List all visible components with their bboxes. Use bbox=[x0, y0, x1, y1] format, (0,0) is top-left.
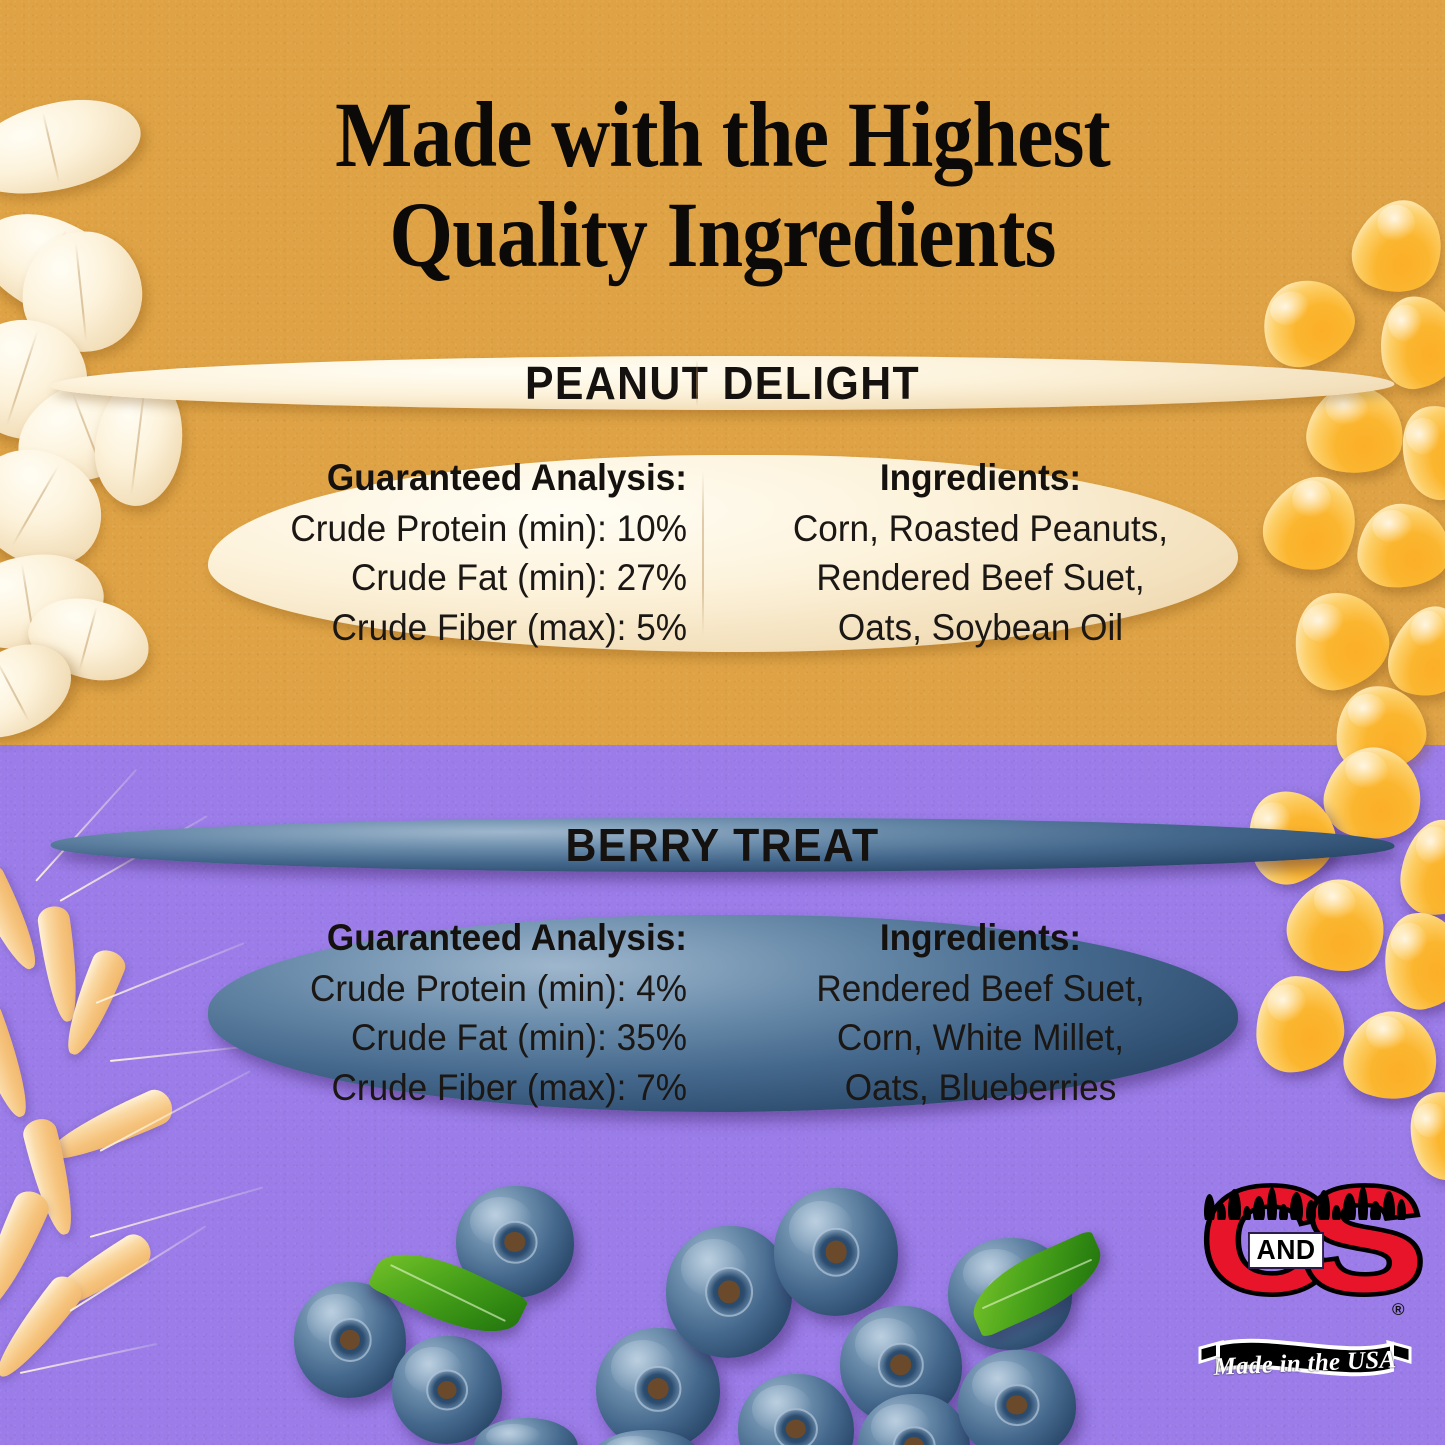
analysis-line: Crude Fat (min): 35% bbox=[232, 1013, 687, 1062]
made-in-usa-ribbon: Made in the USA bbox=[1196, 1334, 1414, 1394]
ingredients-heading: Ingredients: bbox=[736, 915, 1225, 960]
analysis-line: Crude Protein (min): 10% bbox=[232, 504, 687, 553]
ingredients-line: Rendered Beef Suet, bbox=[736, 964, 1225, 1013]
page-headline: Made with the Highest Quality Ingredient… bbox=[87, 86, 1359, 285]
blueberry-crown bbox=[774, 1408, 818, 1445]
brand-logo-c-and-s: C S AND ® bbox=[1196, 1182, 1414, 1404]
blueberry-crown bbox=[878, 1343, 924, 1388]
ingredients-line: Corn, White Millet, bbox=[736, 1013, 1225, 1062]
analysis-line: Crude Fiber (max): 7% bbox=[232, 1063, 687, 1112]
blueberry-crown bbox=[493, 1221, 538, 1264]
registered-trademark-icon: ® bbox=[1392, 1300, 1405, 1320]
analysis-heading: Guaranteed Analysis: bbox=[232, 455, 687, 500]
blueberry-crown bbox=[812, 1228, 859, 1277]
guaranteed-analysis-peanut: Guaranteed Analysis: Crude Protein (min)… bbox=[208, 455, 723, 652]
blueberry-crown bbox=[995, 1384, 1040, 1426]
blueberry-icon bbox=[666, 1226, 792, 1358]
logo-and-label: AND bbox=[1248, 1232, 1324, 1269]
flavor-title-berry-treat: BERRY TREAT bbox=[51, 818, 1395, 872]
blueberry-crown bbox=[329, 1318, 372, 1362]
blueberry-crown bbox=[634, 1366, 681, 1412]
ingredients-berry: Ingredients: Rendered Beef Suet, Corn, W… bbox=[723, 915, 1238, 1112]
specs-berry-treat: Guaranteed Analysis: Crude Protein (min)… bbox=[208, 915, 1238, 1112]
blueberry-crown bbox=[426, 1369, 468, 1410]
ingredients-line: Oats, Soybean Oil bbox=[736, 603, 1225, 652]
blueberry-icon bbox=[774, 1188, 898, 1316]
analysis-heading: Guaranteed Analysis: bbox=[232, 915, 687, 960]
blueberry-crown bbox=[705, 1267, 753, 1317]
ingredients-peanut: Ingredients: Corn, Roasted Peanuts, Rend… bbox=[723, 455, 1238, 652]
ingredients-line: Corn, Roasted Peanuts, bbox=[736, 504, 1225, 553]
headline-line-1: Made with the Highest bbox=[87, 86, 1359, 186]
blueberry-bloom bbox=[486, 1424, 540, 1445]
analysis-line: Crude Fat (min): 27% bbox=[232, 553, 687, 602]
blueberry-icon bbox=[958, 1350, 1076, 1445]
analysis-line: Crude Protein (min): 4% bbox=[232, 964, 687, 1013]
flavor-title-peanut-delight: PEANUT DELIGHT bbox=[51, 356, 1395, 410]
logo-letterforms: C S AND ® bbox=[1196, 1182, 1414, 1340]
headline-line-2: Quality Ingredients bbox=[87, 186, 1359, 286]
guaranteed-analysis-berry: Guaranteed Analysis: Crude Protein (min)… bbox=[208, 915, 723, 1112]
blueberry-bloom bbox=[605, 1436, 662, 1445]
ingredients-line: Oats, Blueberries bbox=[736, 1063, 1225, 1112]
specs-peanut-delight: Guaranteed Analysis: Crude Protein (min)… bbox=[208, 455, 1238, 652]
analysis-line: Crude Fiber (max): 5% bbox=[232, 603, 687, 652]
ingredients-heading: Ingredients: bbox=[736, 455, 1225, 500]
blueberry-icon bbox=[294, 1282, 406, 1398]
ingredients-line: Rendered Beef Suet, bbox=[736, 553, 1225, 602]
product-infographic: Made with the Highest Quality Ingredient… bbox=[0, 0, 1445, 1445]
